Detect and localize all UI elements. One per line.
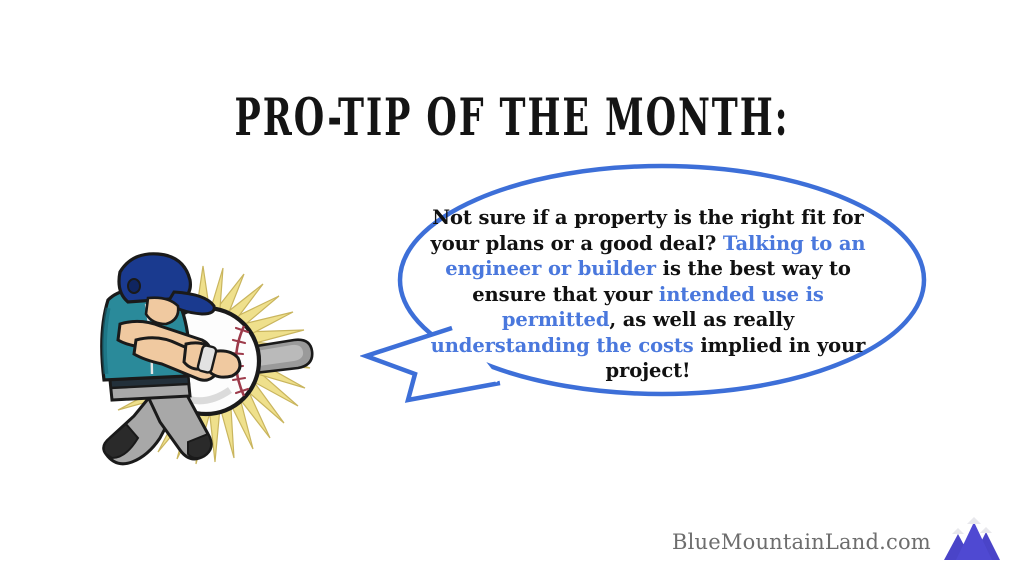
- bubble-segment-3: , as well as really: [609, 308, 794, 331]
- mountain-logo: [926, 516, 1004, 564]
- page-title: PRO-TIP OF THE MONTH:: [123, 88, 901, 146]
- mountain-snowcap-left: [952, 528, 964, 534]
- speech-bubble: Not sure if a property is the right fit …: [360, 160, 940, 415]
- bubble-text: Not sure if a property is the right fit …: [422, 205, 874, 384]
- baseball-batter-illustration: [48, 248, 338, 480]
- footer-brand-text: BlueMountainLand.com: [672, 530, 931, 554]
- mountain-snowcap-right: [980, 527, 992, 533]
- mountain-snowcap-center: [967, 517, 981, 524]
- bubble-highlight-3: understanding the costs: [431, 334, 694, 357]
